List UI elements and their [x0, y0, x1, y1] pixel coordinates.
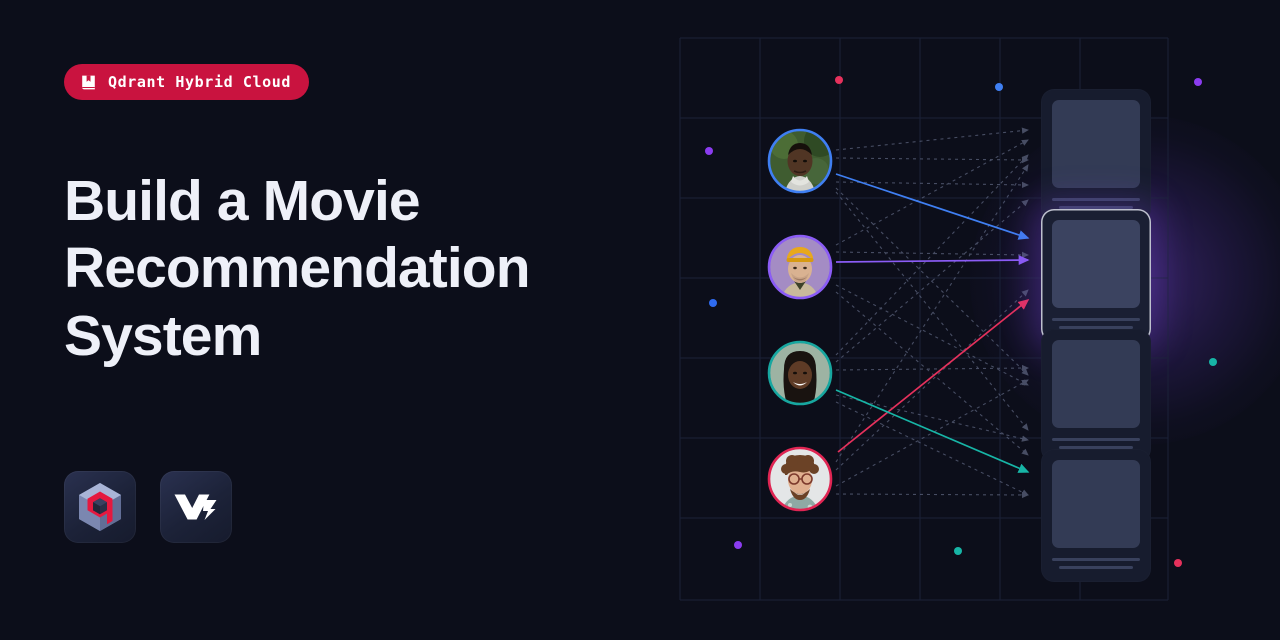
accent-dot-teal-1	[1209, 358, 1217, 366]
movie-poster-thumbnail	[1052, 220, 1140, 308]
graph-lines-layer	[640, 0, 1280, 640]
movie-meta-lines	[1052, 438, 1140, 449]
accent-dot-red-1	[835, 76, 843, 84]
match-link-purple	[836, 260, 1028, 262]
product-badge-label: Qdrant Hybrid Cloud	[108, 75, 291, 90]
movie-card-1[interactable]	[1041, 89, 1151, 222]
movie-meta-lines	[1052, 318, 1140, 329]
match-link-blue	[836, 174, 1028, 238]
qdrant-logo-tile[interactable]	[64, 471, 136, 543]
accent-dot-blue-2	[709, 299, 717, 307]
product-badge[interactable]: Qdrant Hybrid Cloud	[64, 64, 309, 100]
user-avatar-1[interactable]	[766, 127, 834, 195]
movie-meta-lines	[1052, 558, 1140, 569]
accent-dot-purple-1	[1194, 78, 1202, 86]
user-avatar-3[interactable]	[766, 339, 834, 407]
movie-poster-thumbnail	[1052, 340, 1140, 428]
recommendation-graph-illustration	[640, 0, 1280, 640]
vultr-logo	[173, 488, 219, 526]
movie-card-2[interactable]	[1041, 209, 1151, 342]
match-links	[836, 174, 1028, 472]
movie-card-3[interactable]	[1041, 329, 1151, 462]
movie-poster-thumbnail	[1052, 100, 1140, 188]
accent-dot-teal-2	[954, 547, 962, 555]
page-title: Build a Movie Recommendation System	[64, 168, 584, 370]
movie-poster-thumbnail	[1052, 460, 1140, 548]
movie-meta-lines	[1052, 198, 1140, 209]
accent-dot-red-2	[1174, 559, 1182, 567]
hero-banner: Qdrant Hybrid Cloud Build a Movie Recomm…	[0, 0, 1280, 640]
qdrant-logo	[77, 482, 123, 532]
movie-card-4[interactable]	[1041, 449, 1151, 582]
user-avatar-4[interactable]	[766, 445, 834, 513]
accent-dot-purple-3	[734, 541, 742, 549]
candidate-links	[836, 130, 1028, 495]
accent-dot-purple-2	[705, 147, 713, 155]
accent-dot-blue-1	[995, 83, 1003, 91]
book-icon	[80, 74, 97, 91]
user-avatar-2[interactable]	[766, 233, 834, 301]
partner-logos	[64, 471, 232, 543]
hero-content-panel: Qdrant Hybrid Cloud Build a Movie Recomm…	[0, 0, 640, 640]
vultr-logo-tile[interactable]	[160, 471, 232, 543]
